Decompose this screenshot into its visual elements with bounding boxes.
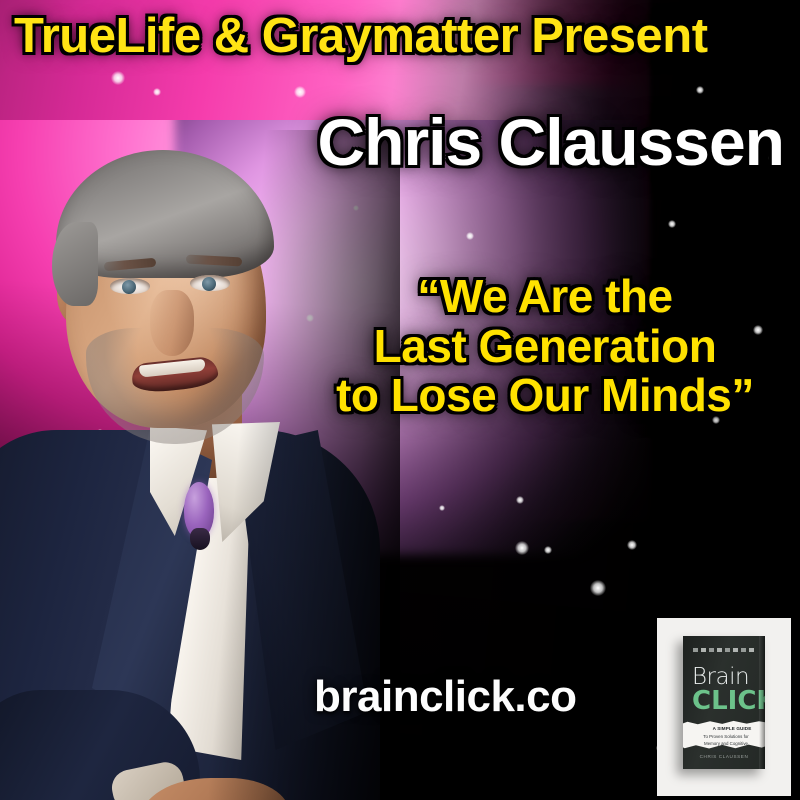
quote-line-1: “We Are the	[300, 272, 790, 322]
portrait-iris-left	[122, 280, 136, 294]
book-cover-top-rule	[693, 648, 755, 652]
presented-by-headline: TrueLife & Graymatter Present	[14, 8, 794, 64]
portrait-microphone-shadow	[190, 528, 210, 550]
quote-line-2: Last Generation	[300, 322, 790, 372]
quote-line-3: to Lose Our Minds”	[300, 371, 790, 421]
website-url[interactable]: brainclick.co	[314, 672, 577, 722]
book-promo-panel[interactable]: Brain CLICK A SIMPLE GUIDE To Proven Sol…	[657, 618, 791, 796]
book-author-name: CHRIS CLAUSSEN	[693, 754, 755, 759]
portrait-iris-right	[202, 277, 216, 291]
podcast-episode-artwork: TrueLife & Graymatter Present Chris Clau…	[0, 0, 800, 800]
book-subtitle-body: To Proven Solutions for Memory and Cogni…	[695, 733, 757, 754]
portrait-eye-right	[190, 275, 230, 291]
book-cover-image: Brain CLICK A SIMPLE GUIDE To Proven Sol…	[683, 636, 765, 769]
portrait-eye-left	[110, 278, 150, 294]
book-subtitle-top: A SIMPLE GUIDE	[703, 726, 761, 733]
book-spine-shading	[759, 636, 765, 769]
portrait-hair-sideburn	[52, 222, 98, 306]
book-title-click: CLICK	[692, 686, 765, 716]
episode-quote: “We Are the Last Generation to Lose Our …	[300, 272, 790, 421]
portrait-teeth	[139, 359, 206, 378]
speaker-name-heading: Chris Claussen	[318, 104, 785, 180]
portrait-nose	[150, 290, 194, 356]
